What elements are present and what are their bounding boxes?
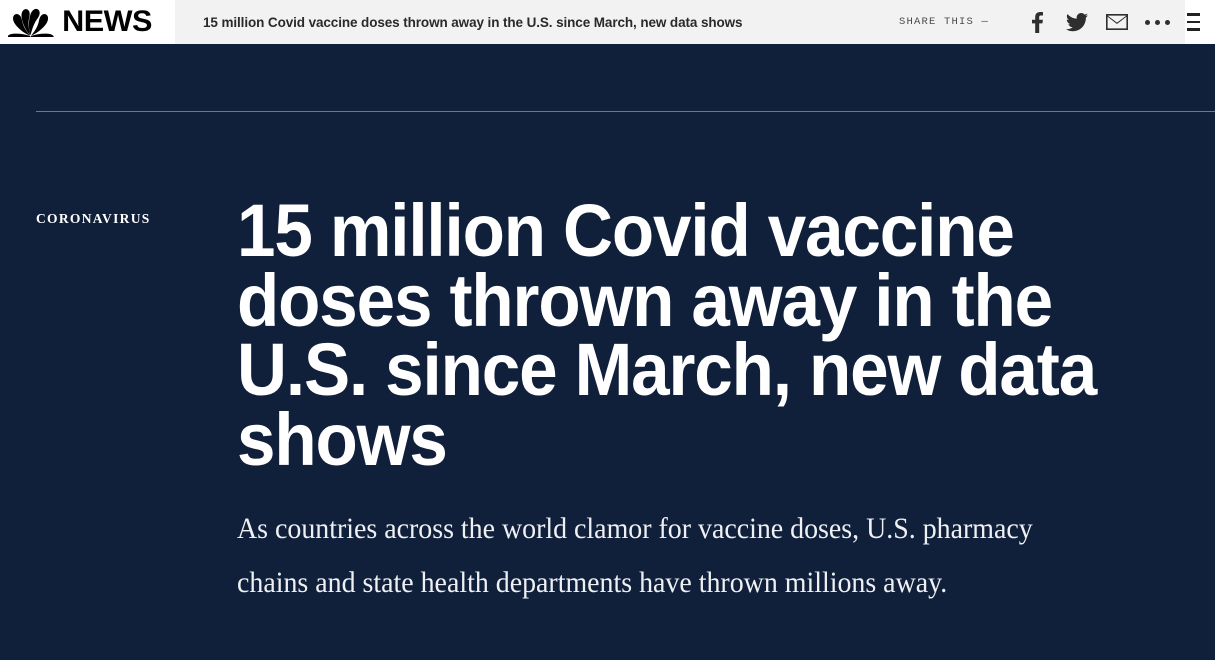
email-icon (1106, 14, 1128, 30)
article-hero: CORONAVIRUS 15 million Covid vaccine dos… (0, 44, 1215, 660)
article-eyebrow[interactable]: CORONAVIRUS (0, 210, 237, 609)
email-share-button[interactable] (1097, 0, 1137, 44)
article-dek: As countries across the world clamor for… (237, 502, 1106, 609)
nbc-news-wordmark: NEWS (62, 7, 152, 37)
facebook-share-button[interactable] (1017, 0, 1057, 44)
article-headline: 15 million Covid vaccine doses thrown aw… (237, 196, 1110, 474)
twitter-icon (1066, 13, 1088, 32)
nbc-peacock-icon (8, 7, 54, 37)
nbc-news-logo[interactable]: NEWS (0, 0, 175, 44)
article-header: CORONAVIRUS 15 million Covid vaccine dos… (0, 210, 1215, 609)
eyebrow-label: CORONAVIRUS (36, 211, 151, 226)
top-navigation-bar: NEWS 15 million Covid vaccine doses thro… (0, 0, 1215, 44)
hamburger-menu-icon (1187, 13, 1200, 31)
nav-article-headline[interactable]: 15 million Covid vaccine doses thrown aw… (175, 15, 899, 30)
facebook-icon (1032, 12, 1043, 33)
hero-divider-rule (36, 111, 1215, 112)
main-menu-button[interactable] (1185, 0, 1215, 44)
more-options-button[interactable] (1137, 0, 1177, 44)
twitter-share-button[interactable] (1057, 0, 1097, 44)
more-options-icon (1145, 20, 1170, 25)
share-this-label: SHARE THIS — (899, 16, 989, 28)
article-text-block: 15 million Covid vaccine doses thrown aw… (237, 210, 1197, 609)
share-toolbar: SHARE THIS — (899, 0, 1185, 44)
